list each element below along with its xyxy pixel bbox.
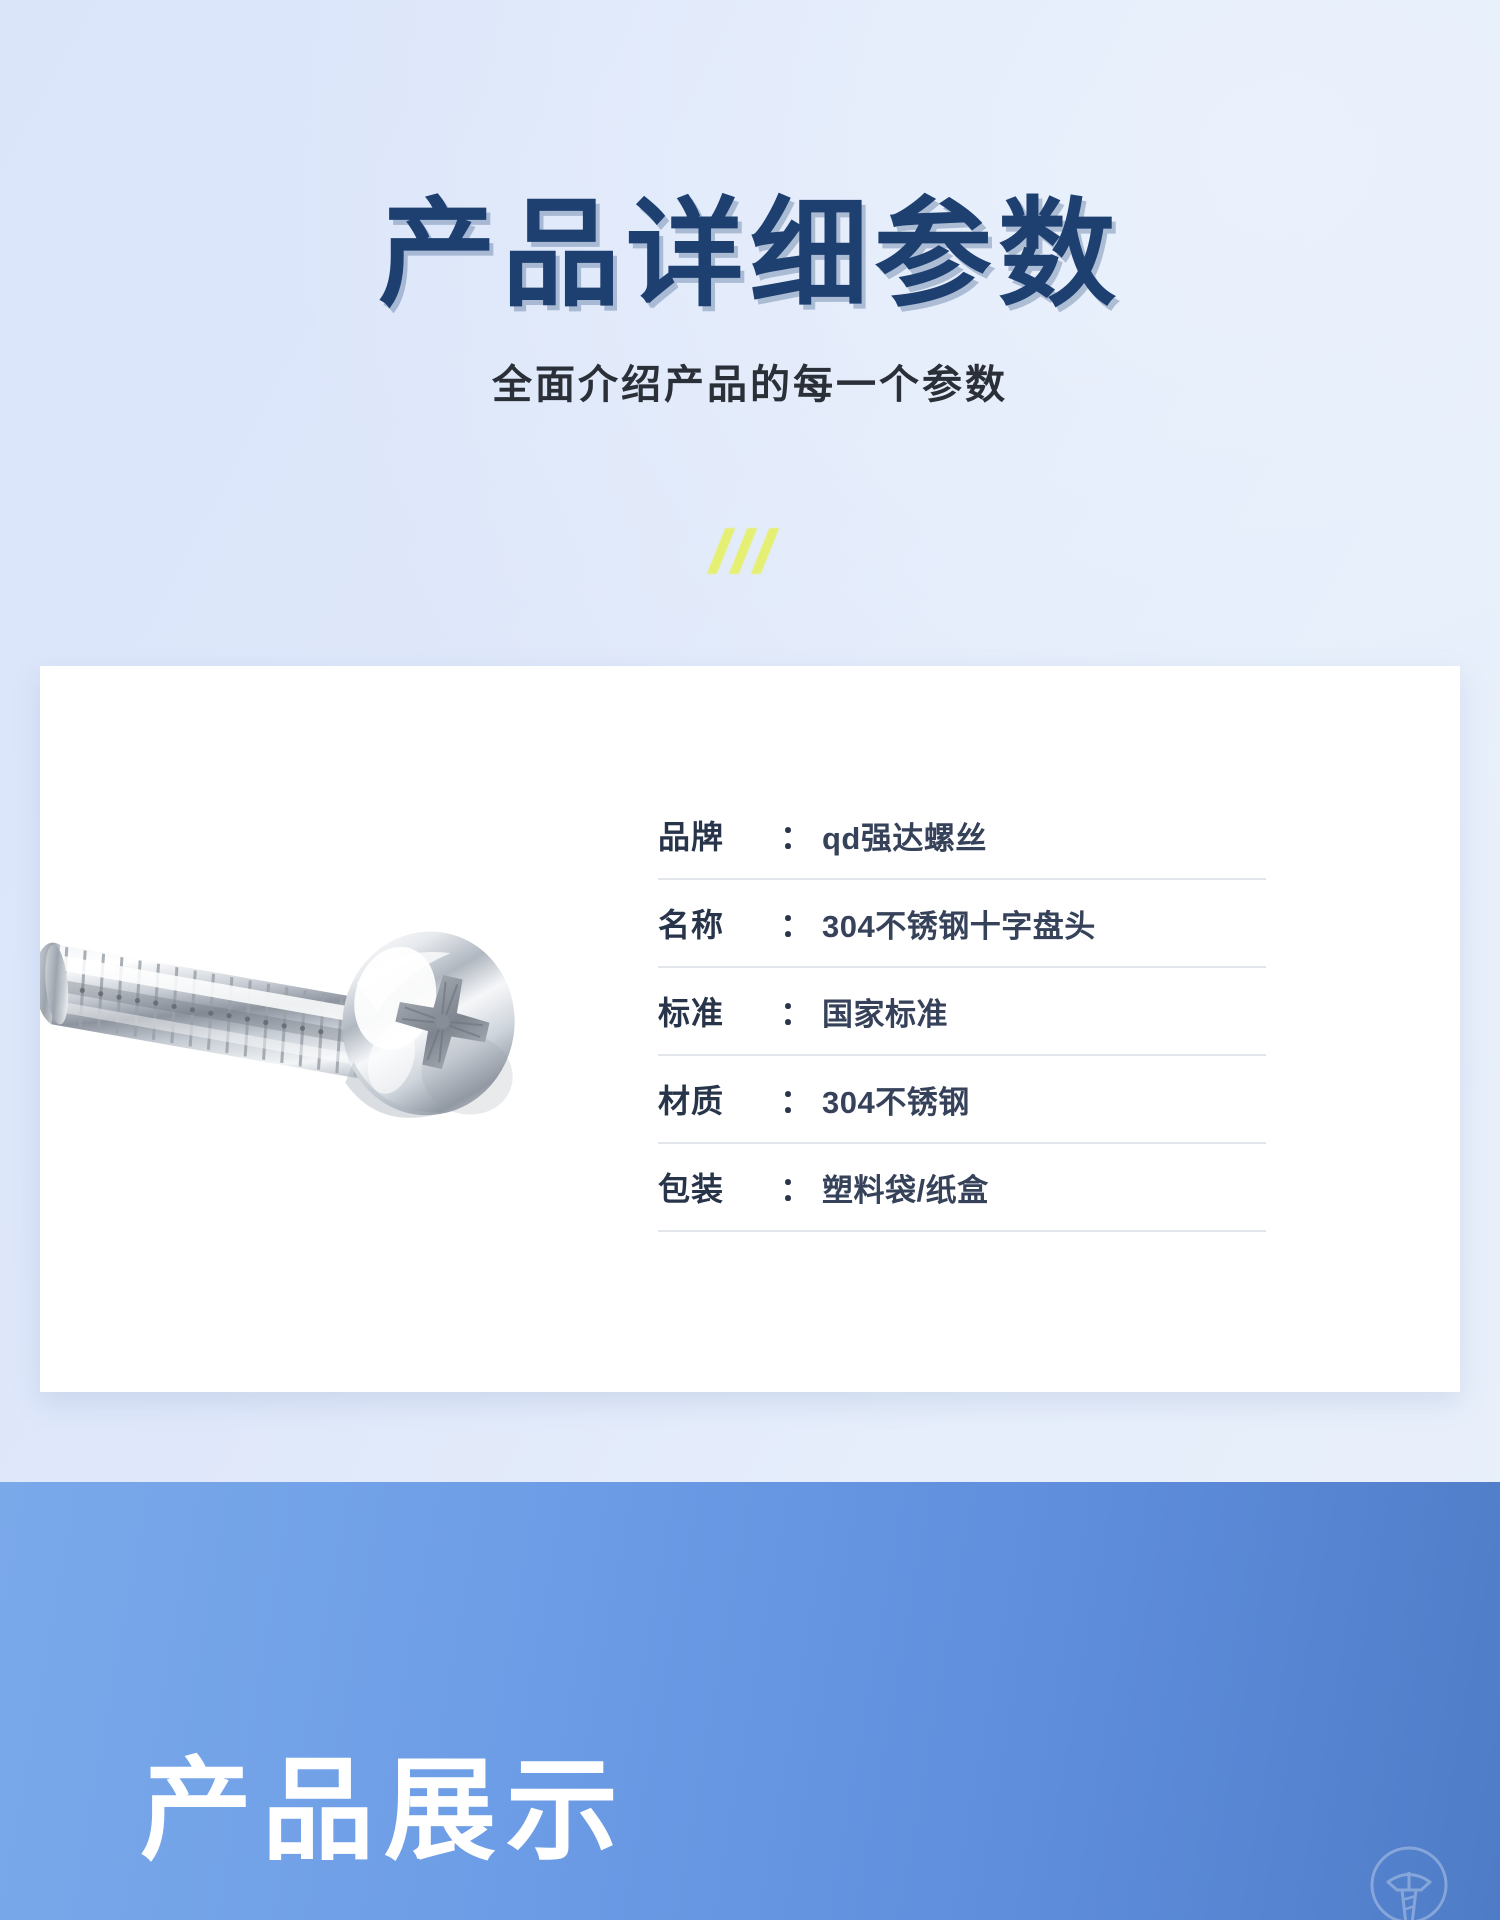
spec-row-material: 材质 ： 304不锈钢 bbox=[658, 1056, 1266, 1144]
spec-colon-standard: ： bbox=[780, 988, 822, 1034]
screw-logo-watermark-icon bbox=[1366, 1842, 1452, 1920]
slash-mark-3 bbox=[751, 528, 780, 574]
spec-value-packaging: 塑料袋/纸盒 bbox=[822, 1165, 989, 1210]
spec-colon-material: ： bbox=[780, 1076, 822, 1122]
page-subtitle: 全面介绍产品的每一个参数 bbox=[0, 352, 1500, 410]
spec-label-brand: 品牌 bbox=[658, 812, 780, 858]
spec-label-packaging: 包装 bbox=[658, 1164, 780, 1210]
product-detail-page: 产品详细参数 全面介绍产品的每一个参数 bbox=[0, 0, 1500, 1920]
spec-row-packaging: 包装 ： 塑料袋/纸盒 bbox=[658, 1144, 1266, 1232]
product-screw-image bbox=[40, 830, 570, 1170]
page-title: 产品详细参数 bbox=[0, 196, 1500, 314]
spec-value-standard: 国家标准 bbox=[822, 989, 948, 1034]
spec-colon-packaging: ： bbox=[780, 1164, 822, 1210]
hero-section: 产品详细参数 全面介绍产品的每一个参数 bbox=[0, 0, 1500, 1482]
spec-row-standard: 标准 ： 国家标准 bbox=[658, 968, 1266, 1056]
spec-label-material: 材质 bbox=[658, 1076, 780, 1122]
spec-row-name: 名称 ： 304不锈钢十字盘头 bbox=[658, 880, 1266, 968]
spec-colon-name: ： bbox=[780, 900, 822, 946]
spec-row-brand: 品牌 ： qd强达螺丝 bbox=[658, 792, 1266, 880]
spec-label-name: 名称 bbox=[658, 900, 780, 946]
spec-label-standard: 标准 bbox=[658, 988, 780, 1034]
spec-value-material: 304不锈钢 bbox=[822, 1077, 970, 1122]
spec-value-name: 304不锈钢十字盘头 bbox=[822, 901, 1096, 946]
spec-colon-brand: ： bbox=[780, 812, 822, 858]
slashes-decoration-icon bbox=[716, 528, 796, 576]
showcase-title: 产品展示 bbox=[140, 1755, 628, 1867]
spec-table: 品牌 ： qd强达螺丝 名称 ： 304不锈钢十字盘头 标准 ： 国家标准 材质… bbox=[658, 792, 1266, 1232]
spec-value-brand: qd强达螺丝 bbox=[822, 813, 987, 858]
